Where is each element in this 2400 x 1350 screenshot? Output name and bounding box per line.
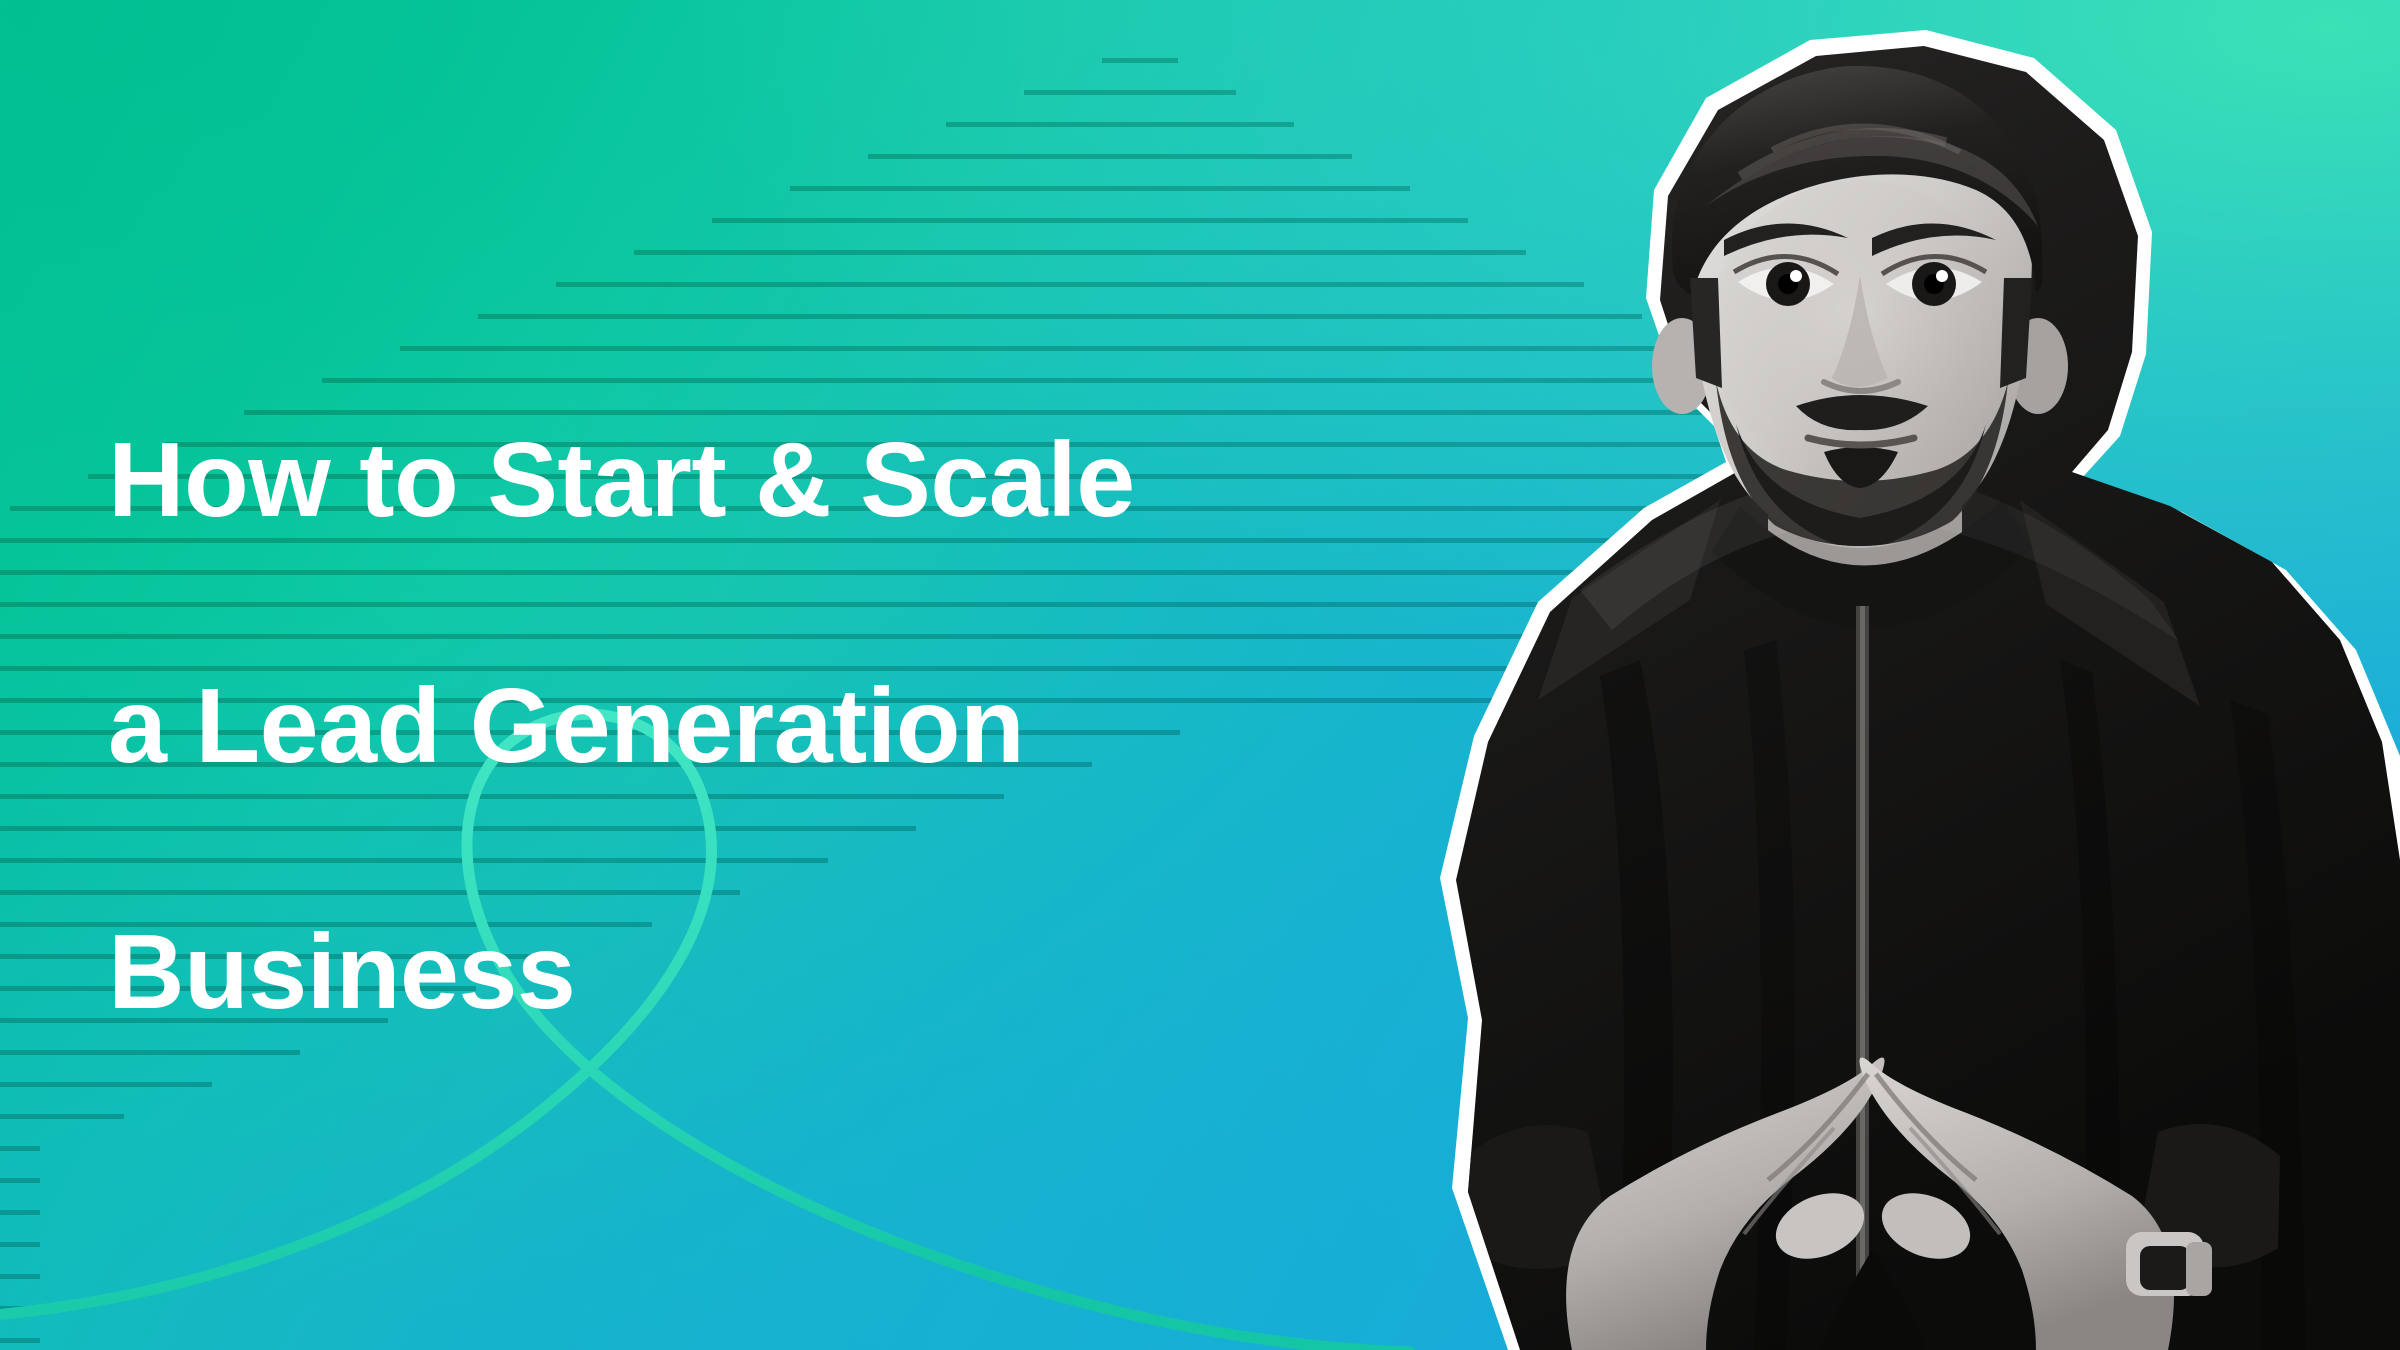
pattern-line <box>0 1274 40 1279</box>
pattern-line <box>0 1146 40 1151</box>
title-line-3: Business <box>108 911 1528 1034</box>
thumbnail-canvas: How to Start & Scale a Lead Generation B… <box>0 0 2400 1350</box>
pattern-line <box>1024 90 1236 95</box>
pattern-line <box>0 1242 40 1247</box>
title-line-1: How to Start & Scale <box>108 419 1528 542</box>
pattern-line <box>0 1306 40 1311</box>
pattern-line <box>1102 58 1178 63</box>
pattern-line <box>0 1178 40 1183</box>
page-title: How to Start & Scale a Lead Generation B… <box>108 296 1528 1157</box>
wristwatch <box>2126 1232 2212 1296</box>
pattern-line <box>0 1114 124 1119</box>
title-line-2: a Lead Generation <box>108 665 1528 788</box>
pattern-line <box>0 1210 40 1215</box>
pattern-line <box>0 1338 40 1343</box>
